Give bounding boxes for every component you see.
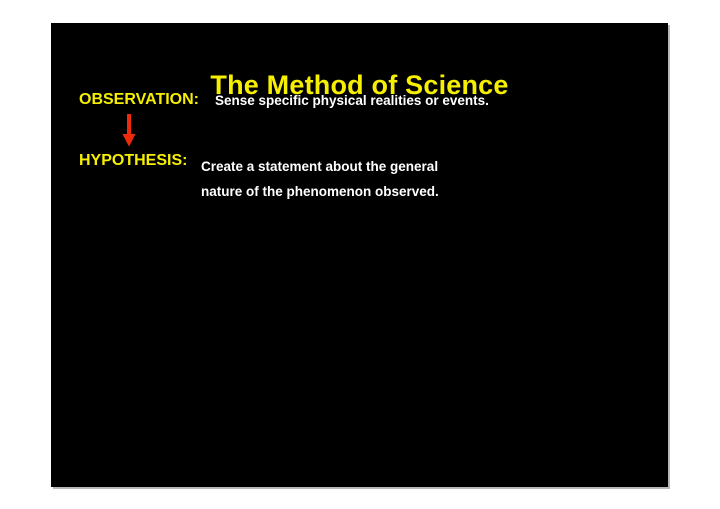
step-hypothesis: HYPOTHESIS: Create a statement about the… [79,152,439,204]
presentation-slide: The Method of Science OBSERVATION:Sense … [51,23,668,487]
arrow-down-icon [120,114,138,147]
step-label-observation: OBSERVATION: [79,91,215,109]
step-body-observation: Sense specific physical realities or eve… [215,91,489,108]
step-body-line: nature of the phenomenon observed. [201,179,439,204]
step-observation: OBSERVATION:Sense specific physical real… [79,91,489,109]
step-label-hypothesis: HYPOTHESIS: [79,152,201,170]
step-body-line: Create a statement about the general [201,154,439,179]
page-canvas: The Method of Science OBSERVATION:Sense … [0,0,720,509]
step-body-hypothesis: Create a statement about the general nat… [201,152,439,204]
